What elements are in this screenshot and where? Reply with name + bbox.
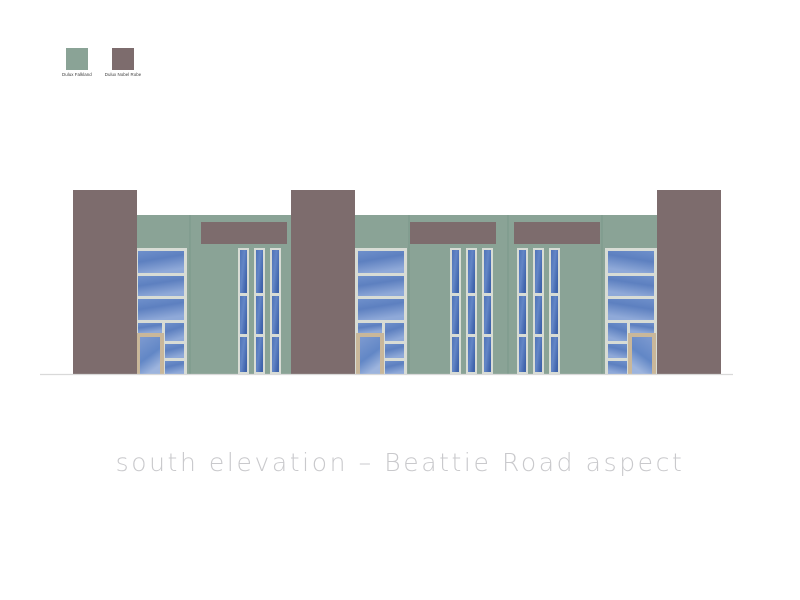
slot-glass: [452, 337, 459, 372]
slot-glass: [272, 337, 279, 372]
window-grid-centre: [355, 248, 407, 374]
slot-windows-mid: [450, 248, 493, 374]
pane: [358, 299, 404, 320]
pane: [385, 361, 404, 374]
pier-right: [657, 190, 721, 374]
window-grid-right: [605, 248, 657, 374]
slot-glass: [452, 250, 459, 293]
slot-window: [270, 248, 281, 374]
pane: [138, 251, 184, 273]
slot-glass: [484, 337, 491, 372]
slot-window: [549, 248, 560, 374]
pane: [165, 323, 184, 341]
pane: [165, 344, 184, 358]
slot-glass: [535, 250, 542, 293]
slot-glass: [452, 296, 459, 334]
slot-window: [466, 248, 477, 374]
slot-glass: [484, 250, 491, 293]
slot-glass: [272, 250, 279, 293]
signage-band-2: [410, 222, 496, 244]
slot-windows-right: [517, 248, 560, 374]
door-glass: [632, 337, 652, 374]
south-elevation-drawing: [0, 0, 800, 600]
slot-glass: [240, 296, 247, 334]
slot-glass: [272, 296, 279, 334]
drawing-caption: south elevation – Beattie Road aspect: [0, 448, 800, 477]
slot-glass: [551, 296, 558, 334]
slot-glass: [468, 296, 475, 334]
pier-middle: [291, 190, 355, 374]
signage-band-3: [514, 222, 600, 244]
slot-glass: [256, 337, 263, 372]
pane: [385, 344, 404, 358]
slot-glass: [551, 250, 558, 293]
slot-glass: [519, 337, 526, 372]
slot-glass: [535, 337, 542, 372]
window-grid-left: [135, 248, 187, 374]
slot-glass: [519, 296, 526, 334]
slot-window: [533, 248, 544, 374]
pane: [138, 323, 162, 333]
slot-window: [517, 248, 528, 374]
slot-glass: [240, 337, 247, 372]
pane: [138, 276, 184, 296]
pane: [608, 299, 654, 320]
slot-glass: [551, 337, 558, 372]
slot-glass: [256, 250, 263, 293]
pane: [358, 276, 404, 296]
pane: [138, 299, 184, 320]
slot-glass: [468, 337, 475, 372]
door-glass: [360, 337, 380, 374]
slot-glass: [519, 250, 526, 293]
pane: [385, 323, 404, 341]
pane: [608, 323, 627, 341]
slot-windows-left: [238, 248, 281, 374]
pane: [165, 361, 184, 374]
slot-window: [254, 248, 265, 374]
slot-glass: [535, 296, 542, 334]
pier-left: [73, 190, 137, 374]
pane: [358, 323, 382, 333]
slot-glass: [468, 250, 475, 293]
slot-window: [450, 248, 461, 374]
pane: [630, 323, 654, 333]
pane: [608, 361, 627, 374]
slot-glass: [256, 296, 263, 334]
pane: [608, 251, 654, 273]
pane: [608, 276, 654, 296]
slot-window: [238, 248, 249, 374]
pane: [608, 344, 627, 358]
door-glass: [140, 337, 160, 374]
slot-glass: [240, 250, 247, 293]
signage-band-1: [201, 222, 287, 244]
slot-window: [482, 248, 493, 374]
pane: [358, 251, 404, 273]
slot-glass: [484, 296, 491, 334]
